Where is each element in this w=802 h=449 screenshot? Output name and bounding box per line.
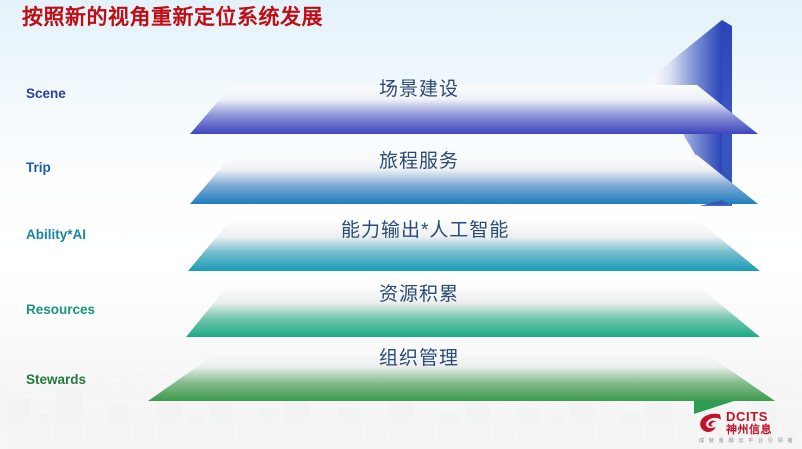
layer-label-scene: Scene — [26, 86, 66, 102]
layer-text-scene: 场景建设 — [379, 78, 459, 102]
dcits-swoosh-icon — [698, 412, 723, 434]
layer-label-trip: Trip — [26, 160, 51, 176]
pyramid-layer-4 — [186, 288, 760, 337]
logo-brand-en: DCITS — [726, 410, 772, 423]
layer-label-stewards: Stewards — [26, 372, 86, 388]
layer-text-ability-ai: 能力输出*人工智能 — [341, 219, 509, 243]
pyramid-layer-2 — [190, 155, 758, 204]
logo-tagline: 成 就 金 融 云 平 台 引 领 者 — [699, 437, 794, 444]
layer-label-ability-ai: Ability*AI — [26, 227, 86, 243]
layer-text-trip: 旅程服务 — [379, 150, 459, 174]
logo-brand-cn: 神州信息 — [726, 425, 772, 436]
logo-lockup: DCITS 神州信息 — [698, 410, 772, 436]
company-logo: DCITS 神州信息 成 就 金 融 云 平 台 引 领 者 — [694, 401, 798, 445]
slide-canvas: 按照新的视角重新定位系统发展 — [0, 0, 802, 449]
layer-text-stewards: 组织管理 — [379, 347, 459, 371]
layer-label-resources: Resources — [26, 302, 95, 318]
logo-wordmark: DCITS 神州信息 — [726, 410, 772, 436]
pyramid-layer-5 — [148, 352, 775, 401]
layer-text-resources: 资源积累 — [379, 283, 459, 307]
pyramid-layer-1 — [190, 85, 758, 134]
